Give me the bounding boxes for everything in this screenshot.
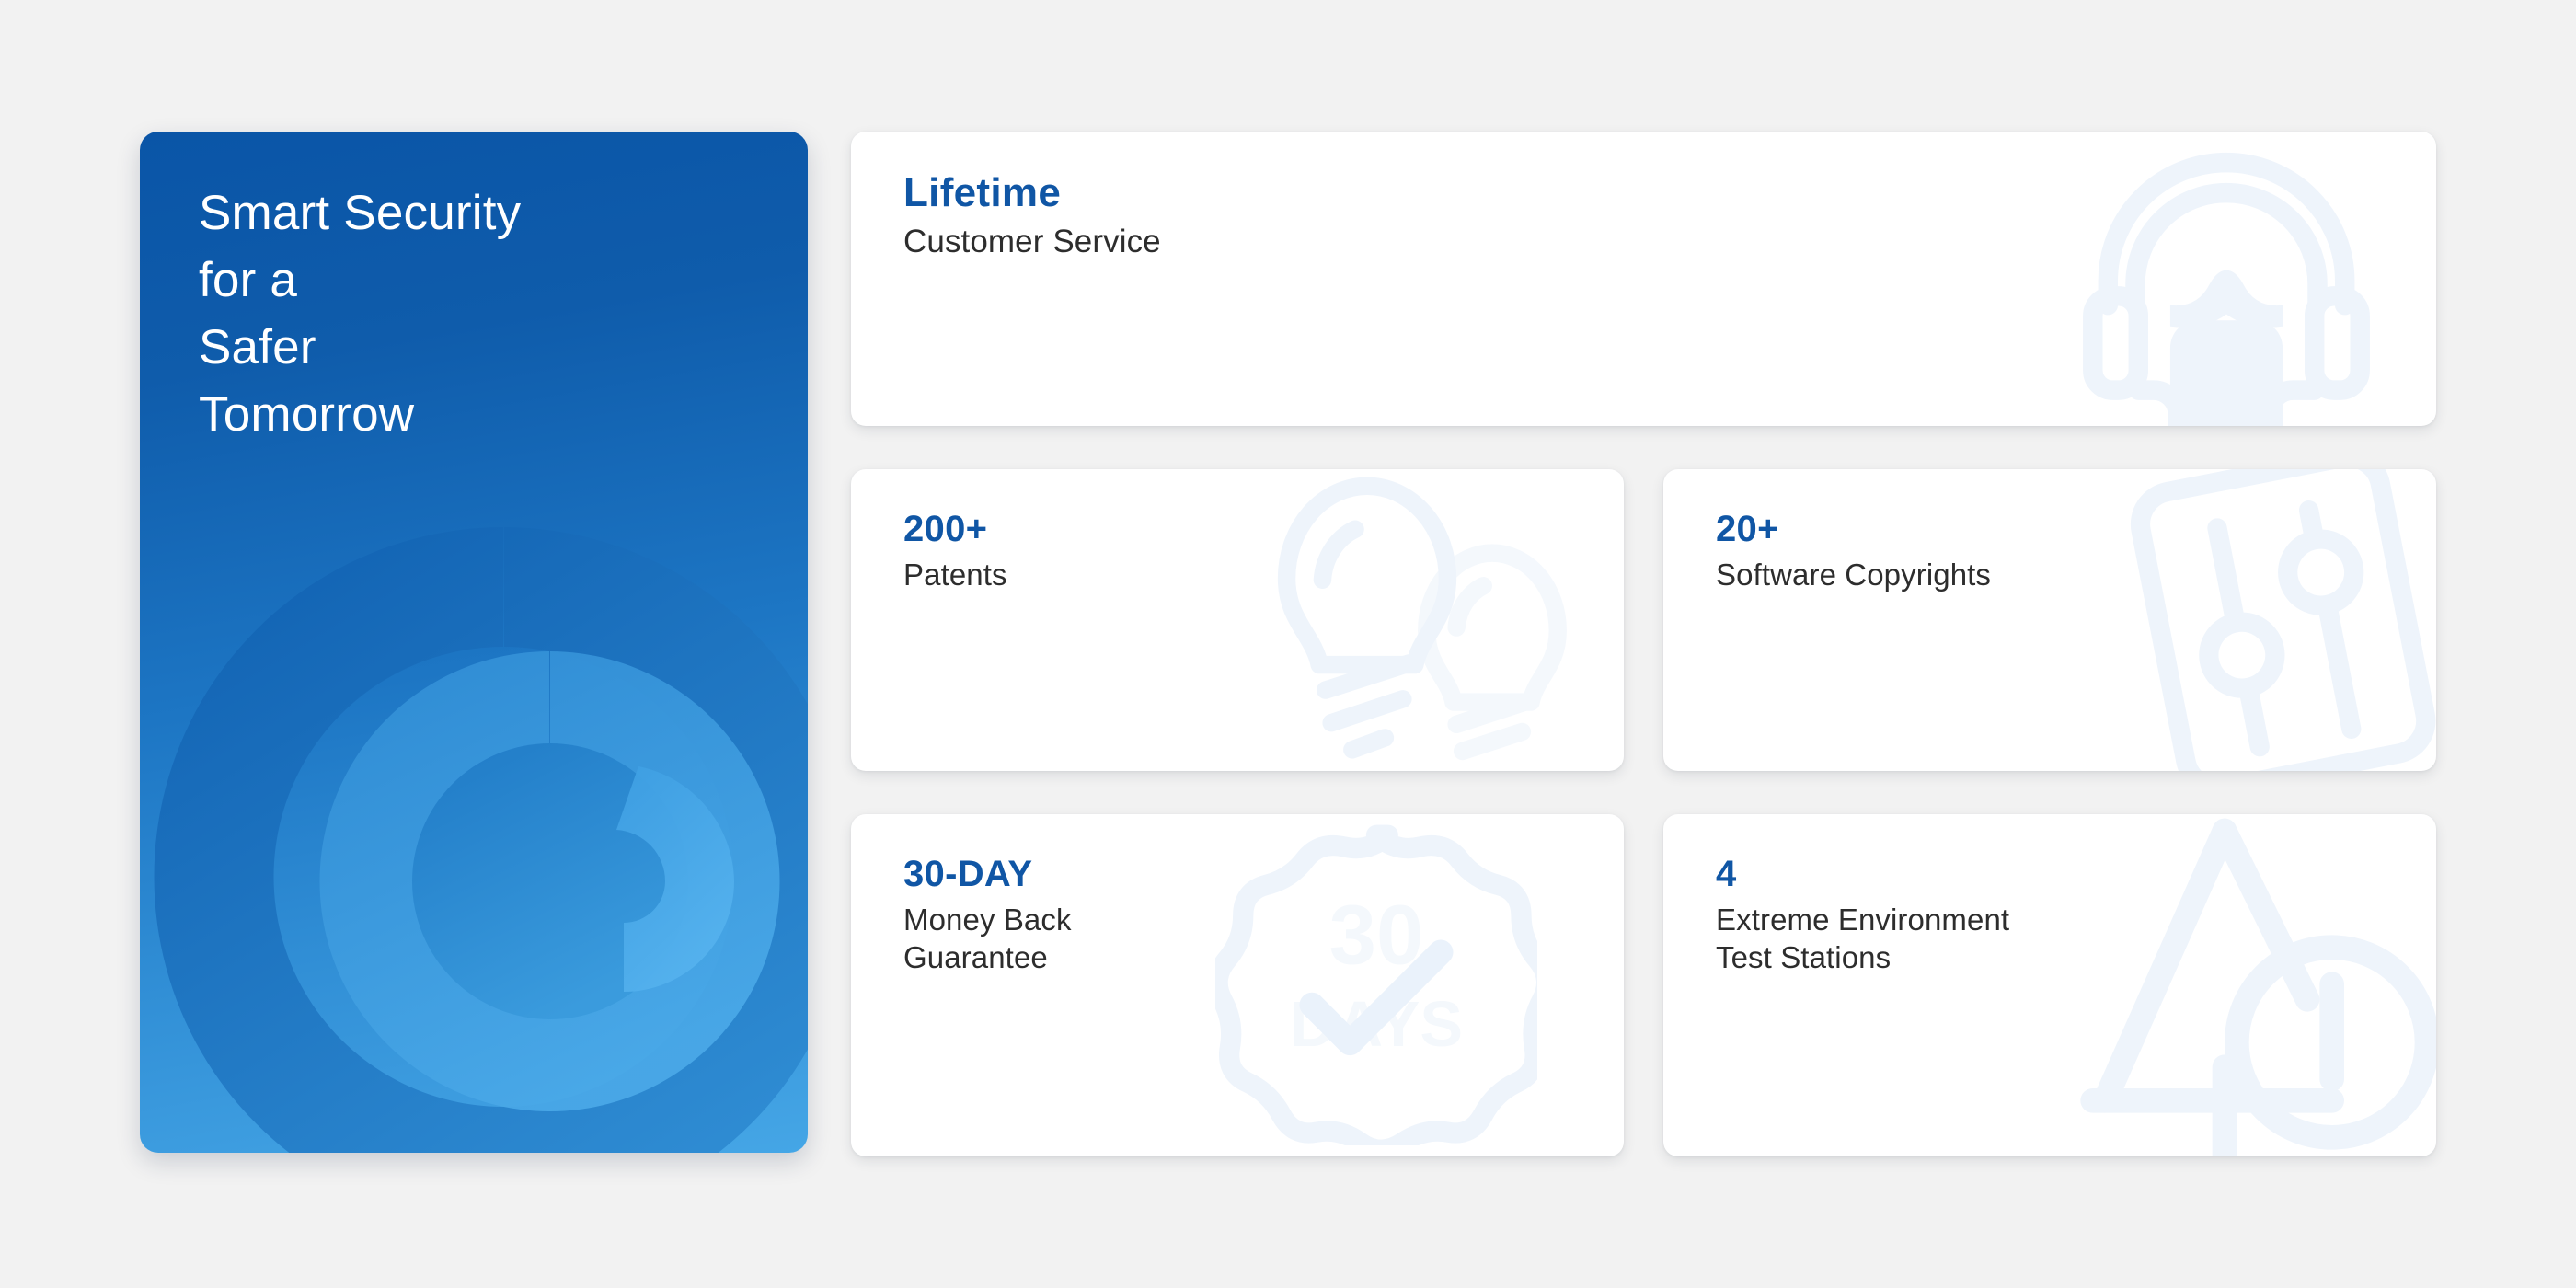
stat-label: Customer Service — [903, 222, 2436, 262]
stat-card-customer-service[interactable]: Lifetime Customer Service — [851, 132, 2436, 426]
stat-label: Software Copyrights — [1716, 556, 2436, 593]
stat-label: Money Back Guarantee — [903, 901, 1624, 976]
hero-panel: Smart Security for a Safer Tomorrow — [140, 132, 808, 1153]
stat-card-grid: Lifetime Customer Service — [851, 132, 2436, 1156]
stat-value: 30-DAY — [903, 853, 1624, 895]
stat-label: Patents — [903, 556, 1624, 593]
stat-card-money-back-guarantee[interactable]: 30 DAYS 30-DAY Money Back Guarantee — [851, 814, 1624, 1156]
stat-value: 20+ — [1716, 508, 2436, 550]
spiral-swirl-graphic — [140, 463, 808, 1153]
stats-banner: Smart Security for a Safer Tomorrow — [0, 0, 2576, 1288]
stat-value: 200+ — [903, 508, 1624, 550]
stat-label: Extreme Environment Test Stations — [1716, 901, 2436, 976]
stat-card-patents[interactable]: 200+ Patents — [851, 469, 1624, 771]
stat-value: 4 — [1716, 853, 2436, 895]
stat-card-test-stations[interactable]: 4 Extreme Environment Test Stations — [1663, 814, 2436, 1156]
stat-value: Lifetime — [903, 170, 2436, 216]
stat-card-software-copyrights[interactable]: 20+ Software Copyrights — [1663, 469, 2436, 771]
hero-title: Smart Security for a Safer Tomorrow — [199, 179, 751, 448]
svg-text:DAYS: DAYS — [1290, 988, 1463, 1060]
